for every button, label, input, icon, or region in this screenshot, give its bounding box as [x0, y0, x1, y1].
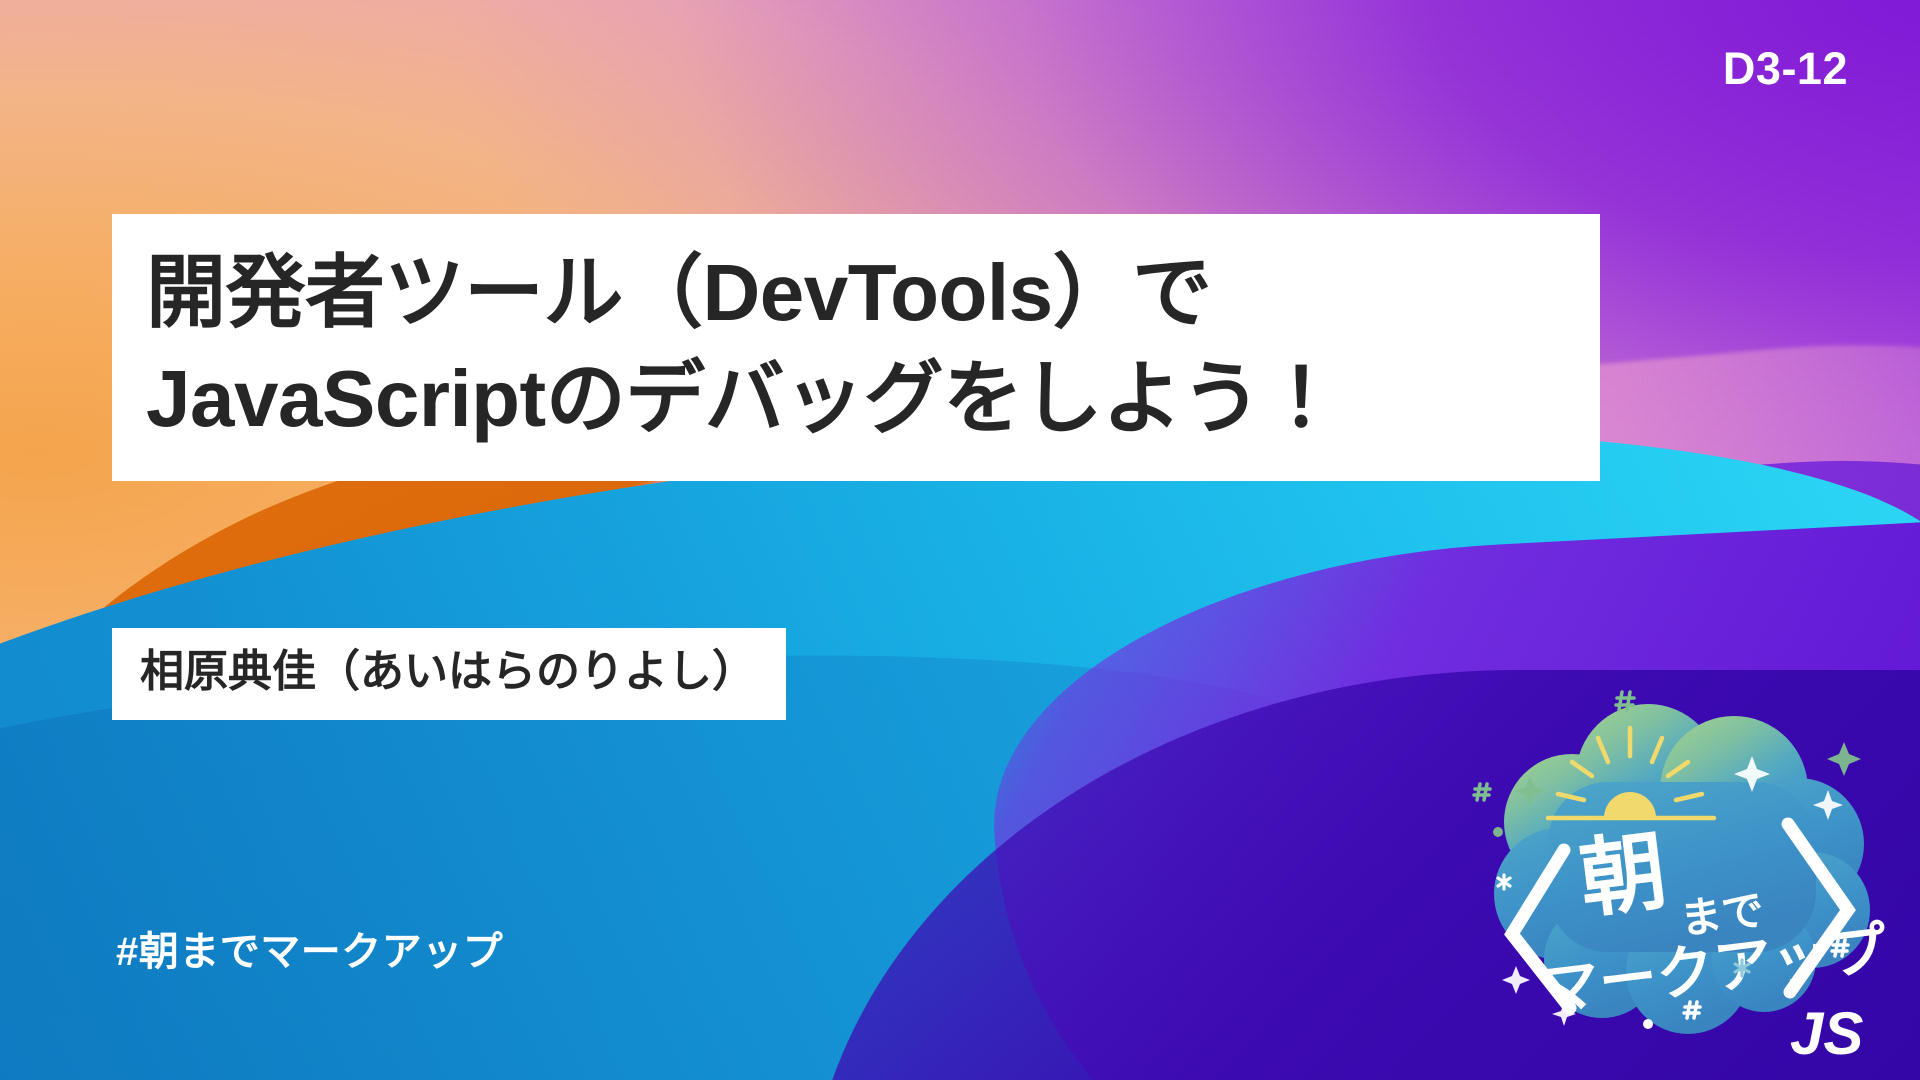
- logo-js-mark: JS: [1790, 1000, 1863, 1067]
- page-title-line-2: JavaScriptのデバッグをしよう！: [146, 346, 1566, 452]
- title-box: 開発者ツール（DevTools）で JavaScriptのデバッグをしよう！: [112, 214, 1600, 481]
- logo-dot: [1643, 1019, 1653, 1029]
- page-title-line-1: 開発者ツール（DevTools）で: [146, 240, 1566, 346]
- event-logo: 朝 まで マークアップ: [1452, 672, 1892, 1072]
- speaker-box: 相原典佳（あいはらのりよし）: [112, 628, 786, 720]
- session-code-label: D3-12: [1723, 46, 1848, 91]
- logo-text-asa: 朝: [1575, 823, 1672, 929]
- speaker-name-label: 相原典佳（あいはらのりよし）: [140, 644, 756, 700]
- event-hashtag-label: #朝までマークアップ: [116, 932, 503, 972]
- title-slide: D3-12 開発者ツール（DevTools）で JavaScriptのデバッグを…: [0, 0, 1920, 1080]
